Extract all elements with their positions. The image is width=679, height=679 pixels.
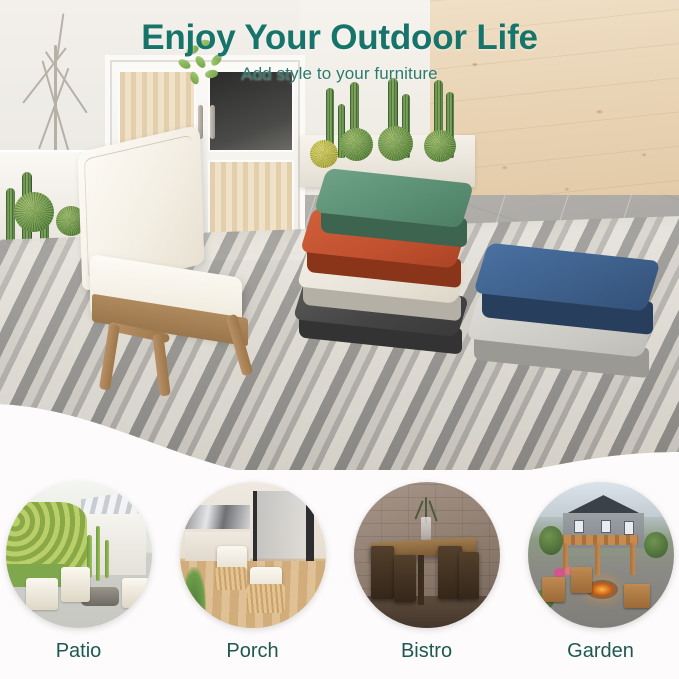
cushion-green [318, 176, 470, 244]
category-thumbnail-bistro[interactable] [354, 482, 500, 628]
chair-leg [152, 334, 170, 397]
porch-scene-art [180, 482, 326, 628]
category-label-garden: Garden [528, 640, 674, 663]
page-title: Enjoy Your Outdoor Life [0, 20, 679, 57]
patio-scene-art [6, 482, 152, 628]
category-label-porch: Porch [180, 640, 326, 663]
category-label-patio: Patio [6, 640, 152, 663]
category-label-bistro: Bistro [354, 640, 500, 663]
cushion-blue [478, 252, 656, 330]
category-strip: Patio Porch [0, 470, 679, 679]
category-item-garden[interactable]: Garden [528, 482, 674, 663]
garden-scene-art [528, 482, 674, 628]
bistro-scene-art [354, 482, 500, 628]
page-subtitle: Add style to your furniture [0, 64, 679, 84]
category-item-patio[interactable]: Patio [6, 482, 152, 663]
category-thumbnail-patio[interactable] [6, 482, 152, 628]
hero-text-block: Enjoy Your Outdoor Life Add style to you… [0, 20, 679, 84]
door-handle [210, 105, 215, 139]
category-item-bistro[interactable]: Bistro [354, 482, 500, 663]
category-item-porch[interactable]: Porch [180, 482, 326, 663]
barrel-cactus [340, 128, 373, 161]
hero-scene: Enjoy Your Outdoor Life Add style to you… [0, 0, 679, 490]
chair-leg [99, 324, 120, 391]
barrel-cactus [14, 192, 54, 232]
barrel-cactus-yellow [310, 140, 338, 168]
wood-frame-lounge-chair [68, 138, 293, 388]
barrel-cactus [378, 126, 413, 161]
category-thumbnail-porch[interactable] [180, 482, 326, 628]
category-thumbnail-garden[interactable] [528, 482, 674, 628]
product-marketing-image: Enjoy Your Outdoor Life Add style to you… [0, 0, 679, 679]
barrel-cactus [424, 130, 456, 162]
